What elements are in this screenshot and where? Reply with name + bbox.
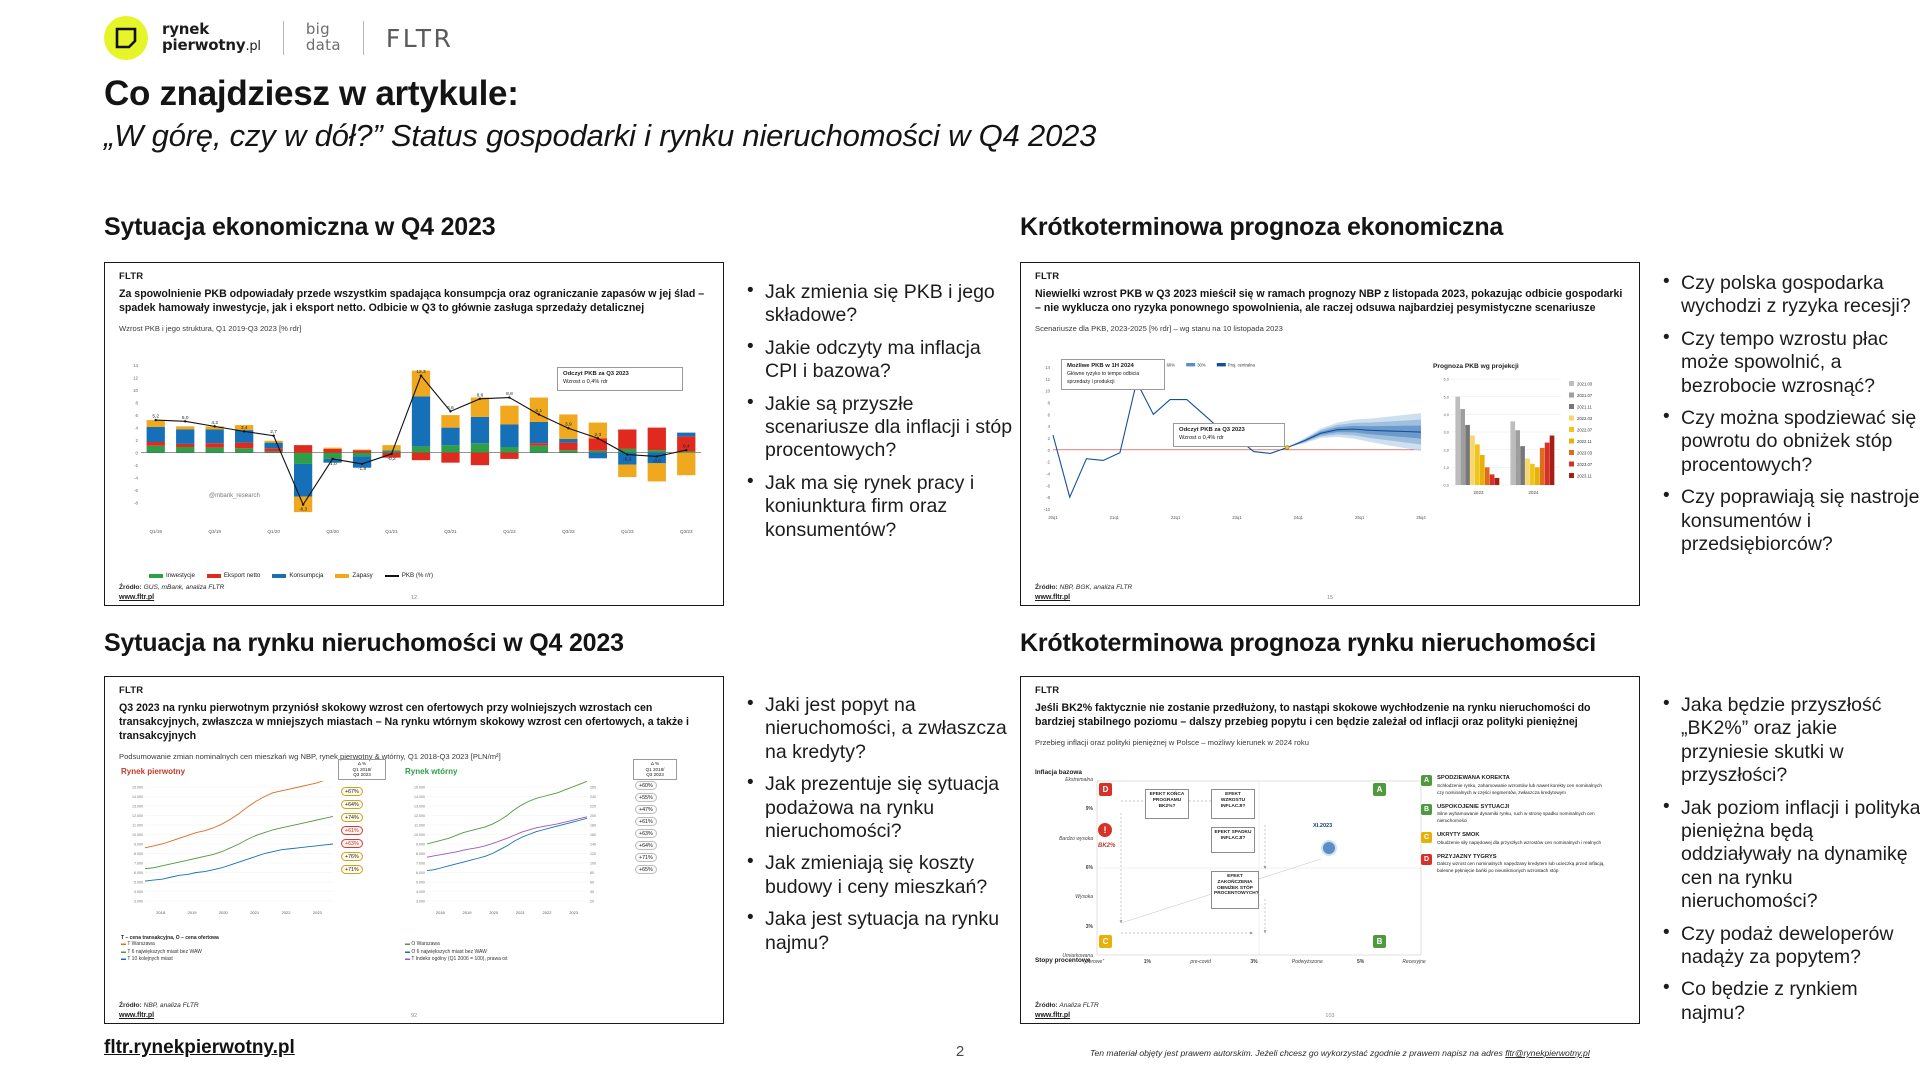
svg-text:40: 40	[590, 890, 594, 894]
svg-text:8,8: 8,8	[506, 391, 513, 397]
svg-text:2023.11: 2023.11	[1577, 473, 1592, 478]
svg-text:6,0: 6,0	[1443, 377, 1449, 382]
svg-text:-8: -8	[1046, 495, 1050, 500]
matrix-y-label: 6%	[1086, 865, 1093, 871]
matrix-bk2-label: BK2%	[1098, 843, 1115, 849]
bullet-item: Czy tempo wzrostu płac może spowolnić, a…	[1661, 328, 1920, 398]
svg-text:Q3/19: Q3/19	[208, 529, 221, 534]
svg-text:2018: 2018	[156, 910, 166, 915]
card3-source: Źródło: NBP, analiza FLTR	[119, 1002, 199, 1009]
card3-link[interactable]: www.fltr.pl	[119, 1012, 154, 1019]
card4-y-labels: Ekstremalna9%Bardzo wysoka6%Wysoka3%Umia…	[1045, 781, 1093, 957]
svg-text:15.000: 15.000	[132, 786, 143, 790]
rynekpierwotny-logo-icon	[104, 16, 148, 60]
card2-callout-gdp-q3: Odczyt PKB za Q3 2023 Wzrost o 0,4% rdr	[1173, 423, 1285, 447]
bullet-list-q1: Jak zmienia się PKB i jego składowe?Jaki…	[745, 281, 1013, 551]
bullet-item: Jak zmieniają się koszty budowy i ceny m…	[745, 852, 1013, 899]
svg-text:180: 180	[590, 824, 596, 828]
legend-item-konsumpcja: Konsumpcja	[272, 572, 323, 579]
svg-text:2: 2	[136, 438, 139, 443]
matrix-legend-item: BUSPOKOJENIE SYTUACJISilne wyhamowanie d…	[1421, 804, 1607, 826]
section-heading-economy-q4: Sytuacja ekonomiczna w Q4 2023	[104, 213, 495, 242]
card3-subtitle: Podsumowanie zmian nominalnych cen miesz…	[119, 752, 711, 761]
svg-text:200: 200	[590, 814, 596, 818]
bullet-item: Czy można spodziewać się powrotu do obni…	[1661, 407, 1920, 477]
svg-text:Q1/19: Q1/19	[149, 529, 162, 534]
footer-site-link[interactable]: fltr.rynekpierwotny.pl	[104, 1037, 295, 1059]
card4-link[interactable]: www.fltr.pl	[1035, 1012, 1070, 1019]
svg-text:2019: 2019	[188, 910, 198, 915]
matrix-node-a[interactable]: A	[1373, 783, 1386, 796]
svg-text:10.000: 10.000	[132, 833, 143, 837]
svg-text:0: 0	[136, 451, 139, 456]
matrix-legend-item: CUKRYTY SMOKObudzenie siły napędowej dla…	[1421, 832, 1607, 847]
svg-text:4,0: 4,0	[1443, 412, 1449, 417]
card1-callout-title: Odczyt PKB za Q3 2023	[563, 371, 629, 377]
svg-text:160: 160	[590, 833, 596, 837]
svg-text:2,0: 2,0	[1443, 447, 1449, 452]
svg-text:5.000: 5.000	[134, 881, 143, 885]
svg-text:240: 240	[590, 795, 596, 799]
card3-footnote: T – cena transakcyjna, O – cena ofertowa	[121, 935, 219, 941]
svg-text:6,1: 6,1	[536, 408, 543, 414]
svg-text:120: 120	[590, 852, 596, 856]
svg-text:2: 2	[1048, 436, 1051, 441]
svg-text:2021: 2021	[250, 910, 260, 915]
bullet-item: Co będzie z rynkiem najmu?	[1661, 978, 1920, 1025]
svg-text:25q1: 25q1	[1355, 515, 1365, 520]
price-delta-badge: +63%	[341, 839, 363, 848]
matrix-box-rate-cut-end: EFEKT ZAKOŃCZENIA OBNIŻEK STÓP PROCENTOW…	[1211, 871, 1259, 909]
svg-text:0,4: 0,4	[683, 444, 690, 450]
logo-divider-1	[283, 21, 284, 55]
svg-text:2,7: 2,7	[270, 429, 277, 435]
matrix-box-inflation-drop: EFEKT SPADKU INFLACJI?	[1211, 827, 1255, 853]
svg-text:-10: -10	[1044, 507, 1051, 512]
bullet-item: Jaka będzie przyszłość „BK2%” oraz jakie…	[1661, 694, 1920, 788]
svg-text:Q3/22: Q3/22	[562, 529, 575, 534]
svg-text:4,2: 4,2	[211, 420, 218, 426]
svg-text:-2: -2	[134, 463, 138, 468]
matrix-x-label: pre-covid	[1184, 959, 1218, 965]
svg-text:10.000: 10.000	[414, 833, 425, 837]
svg-text:9.000: 9.000	[416, 843, 425, 847]
brand-logo-bar: rynek pierwotny.pl big data FLTR	[104, 16, 453, 60]
price-delta-badge: +64%	[635, 841, 657, 850]
card1-fltr-label: FLTR	[119, 271, 711, 282]
card1-title: Za spowolnienie PKB odpowiadały przede w…	[119, 288, 711, 316]
svg-text:10: 10	[133, 388, 138, 393]
card3-left-deltas: +67%+64%+74%+61%+63%+76%+71%	[341, 787, 363, 874]
card4-fltr-label: FLTR	[1035, 685, 1627, 696]
card2-box-text: Główne ryzyko to tempo odbicia sprzedaży…	[1067, 371, 1139, 385]
card2-link[interactable]: www.fltr.pl	[1035, 594, 1070, 601]
svg-text:0,0: 0,0	[1443, 483, 1449, 488]
svg-text:10: 10	[1045, 389, 1050, 394]
card3-fltr-label: FLTR	[119, 685, 711, 696]
svg-text:-0,6: -0,6	[653, 458, 662, 464]
svg-text:60%: 60%	[1167, 362, 1176, 367]
footer-page-number: 2	[956, 1043, 964, 1060]
matrix-legend-item: ASPODZIEWANA KOREKTASchłodzenie rynku, z…	[1421, 775, 1607, 797]
svg-text:2022.03: 2022.03	[1577, 416, 1593, 421]
price-delta-badge: +60%	[635, 781, 657, 790]
slide-card-inflation-matrix[interactable]: FLTR Jeśli BK2% faktycznie nie zostanie …	[1020, 676, 1640, 1024]
gdp-projection-bars: 6,05,04,03,02,01,00,0202320242021.032021…	[1429, 367, 1619, 532]
matrix-x-label: Podwyższone	[1290, 959, 1324, 965]
bullet-item: Jakie odczyty ma inflacja CPI i bazowa?	[745, 337, 1013, 384]
matrix-legend-tag: D	[1421, 854, 1432, 865]
svg-text:25q4: 25q4	[1416, 515, 1426, 520]
matrix-y-label: 9%	[1086, 806, 1093, 812]
card3-right-deltas: +60%+55%+47%+61%+63%+64%+71%+65%	[635, 781, 657, 874]
matrix-node-c[interactable]: C	[1099, 935, 1112, 948]
svg-text:2019: 2019	[463, 910, 473, 915]
matrix-x-label: 1%	[1130, 959, 1164, 965]
card1-page-number: 12	[411, 595, 417, 601]
matrix-legend-tag: C	[1421, 832, 1432, 843]
footer-copyright: Ten materiał objęty jest prawem autorski…	[1090, 1048, 1590, 1058]
bullet-item: Jak prezentuje się sytuacja podażowa na …	[745, 773, 1013, 843]
logo-divider-2	[363, 21, 364, 55]
price-delta-badge: +76%	[341, 852, 363, 861]
matrix-x-label: „Zerowe”	[1077, 959, 1111, 965]
svg-text:2023.07: 2023.07	[1577, 462, 1593, 467]
svg-text:Q1/21: Q1/21	[385, 529, 398, 534]
svg-text:7.000: 7.000	[134, 862, 143, 866]
bullet-list-q3: Jaki jest popyt na nieruchomości, a zwła…	[745, 694, 1013, 964]
svg-text:-0,2: -0,2	[387, 456, 396, 462]
price-delta-badge: +64%	[341, 800, 363, 809]
svg-text:6,6: 6,6	[447, 405, 454, 411]
bullet-list-q2: Czy polska gospodarka wychodzi z ryzyka …	[1661, 272, 1920, 565]
svg-text:Proj. centralna: Proj. centralna	[1228, 362, 1256, 367]
svg-text:140: 140	[590, 843, 596, 847]
matrix-y-label: Wysoka	[1075, 894, 1093, 900]
svg-text:12.000: 12.000	[132, 814, 143, 818]
svg-text:23q1: 23q1	[1232, 515, 1242, 520]
card2-source: Źródło: NBP, BGK, analiza FLTR	[1035, 584, 1132, 591]
svg-text:2022: 2022	[282, 910, 292, 915]
svg-text:2021.03: 2021.03	[1577, 381, 1593, 386]
section-heading-economy-forecast: Krótkoterminowa prognoza ekonomiczna	[1020, 213, 1503, 242]
card3-legend-right: ▬ O Warszawa ▬ O 6 największych miast be…	[405, 941, 508, 964]
svg-text:-1,8: -1,8	[358, 466, 367, 472]
svg-text:2023: 2023	[313, 910, 323, 915]
svg-text:-4: -4	[134, 476, 138, 481]
brand-wordmark: rynek pierwotny.pl	[162, 22, 261, 53]
svg-text:12,3: 12,3	[416, 369, 426, 375]
svg-text:5,0: 5,0	[1443, 394, 1449, 399]
svg-text:220: 220	[590, 805, 596, 809]
svg-text:12: 12	[1045, 377, 1050, 382]
svg-text:0: 0	[1048, 448, 1051, 453]
matrix-node-b[interactable]: B	[1373, 935, 1386, 948]
svg-text:12: 12	[133, 376, 138, 381]
bullet-item: Jak ma się rynek pracy i koniunktura fir…	[745, 472, 1013, 542]
matrix-legend-text: Silne wyhamowanie dynamiki rynku, ruch w…	[1437, 811, 1595, 823]
svg-text:8.000: 8.000	[416, 852, 425, 856]
svg-text:2021.07: 2021.07	[1577, 393, 1593, 398]
bullet-item: Jaki jest popyt na nieruchomości, a zwła…	[745, 694, 1013, 764]
card4-legend: ASPODZIEWANA KOREKTASchłodzenie rynku, z…	[1421, 775, 1607, 882]
svg-text:4: 4	[136, 426, 139, 431]
primary-market-price-chart: 15.00014.00013.00012.00011.00010.0009.00…	[119, 781, 339, 931]
price-delta-badge: +47%	[635, 805, 657, 814]
svg-text:3,0: 3,0	[1443, 430, 1449, 435]
svg-text:4.000: 4.000	[134, 890, 143, 894]
svg-text:80: 80	[590, 871, 594, 875]
svg-text:100: 100	[590, 862, 596, 866]
svg-text:5,2: 5,2	[152, 414, 159, 420]
matrix-legend-title: UKRYTY SMOK	[1437, 832, 1480, 838]
matrix-warning-icon: !	[1098, 823, 1112, 837]
matrix-legend-item: DPRZYJAZNY TYGRYSDalszy wzrost cen nomin…	[1421, 854, 1607, 876]
matrix-box-bk2-end: EFEKT KOŃCA PROGRAMU BK2%?	[1145, 789, 1189, 819]
svg-text:-8: -8	[134, 501, 138, 506]
matrix-current-label: XI.2023	[1313, 823, 1332, 829]
svg-text:2023: 2023	[1473, 490, 1484, 495]
card1-subtitle: Wzrost PKB i jego struktura, Q1 2019-Q3 …	[119, 324, 711, 333]
bullet-item: Czy podaż deweloperów nadąży za popytem?	[1661, 923, 1920, 970]
svg-text:14.000: 14.000	[414, 795, 425, 799]
svg-text:-8,3: -8,3	[299, 507, 308, 513]
card4-page-number: 103	[1325, 1013, 1334, 1019]
slide-card-housing-prices[interactable]: FLTR Q3 2023 na rynku pierwotnym przynió…	[104, 676, 724, 1024]
bigdata-line-2: data	[306, 38, 341, 54]
svg-text:1,0: 1,0	[1443, 465, 1449, 470]
card2-box-possible-gdp: Możliwe PKB w 1H 2024 Główne ryzyko to t…	[1061, 359, 1165, 390]
matrix-x-label: Recesyjne	[1397, 959, 1431, 965]
svg-text:2022.11: 2022.11	[1577, 439, 1592, 444]
svg-text:2021: 2021	[516, 910, 526, 915]
svg-text:7.000: 7.000	[416, 862, 425, 866]
svg-text:-6: -6	[1046, 483, 1050, 488]
brand-tld: .pl	[245, 39, 260, 54]
card3-legend-left: ▬ T Warszawa ▬ T 6 największych miast be…	[121, 941, 202, 964]
svg-text:8: 8	[136, 401, 139, 406]
svg-text:60: 60	[590, 881, 594, 885]
card1-callout-gdp-q3: Odczyt PKB za Q3 2023 Wzrost o 0,4% rdr	[557, 367, 683, 391]
price-delta-badge: +71%	[341, 865, 363, 874]
svg-text:2020: 2020	[489, 910, 499, 915]
svg-text:6: 6	[1048, 412, 1051, 417]
matrix-node-d[interactable]: D	[1099, 783, 1112, 796]
card2-callout-title: Odczyt PKB za Q3 2023	[1179, 427, 1245, 433]
svg-text:14: 14	[1045, 365, 1050, 370]
svg-text:2,3: 2,3	[595, 432, 602, 438]
matrix-legend-title: USPOKOJENIE SYTUACJI	[1437, 804, 1509, 810]
slide-card-gdp-forecast[interactable]: FLTR Niewielki wzrost PKB w Q3 2023 mieś…	[1020, 262, 1640, 606]
card1-legend: Inwestycje Eksport netto Konsumpcja Zapa…	[149, 572, 433, 579]
matrix-x-label: 3%	[1237, 959, 1271, 965]
svg-text:-0,3: -0,3	[623, 457, 632, 463]
svg-text:Q1/22: Q1/22	[503, 529, 516, 534]
legend-item-zapasy: Zapasy	[335, 572, 372, 579]
matrix-x-label: 5%	[1344, 959, 1378, 965]
card2-fltr-label: FLTR	[1035, 271, 1627, 282]
section-heading-realestate-q4: Sytuacja na rynku nieruchomości w Q4 202…	[104, 629, 624, 658]
svg-text:8.000: 8.000	[134, 852, 143, 856]
secondary-market-price-chart: 15.00014.00013.00012.00011.00010.0009.00…	[401, 781, 621, 931]
price-delta-badge: +71%	[635, 853, 657, 862]
card4-title: Jeśli BK2% faktycznie nie zostanie przed…	[1035, 702, 1627, 730]
svg-text:11.000: 11.000	[132, 824, 143, 828]
bullet-item: Jaka jest sytuacja na rynku najmu?	[745, 908, 1013, 955]
svg-text:13.000: 13.000	[132, 805, 143, 809]
svg-text:-2: -2	[1046, 460, 1050, 465]
card3-delta-header: Δ %Q1 2018/Q3 2023	[338, 759, 386, 780]
svg-text:Q3/21: Q3/21	[444, 529, 457, 534]
matrix-current-point[interactable]	[1321, 840, 1337, 856]
matrix-box-inflation-growth: EFEKT WZROSTU INFLACJI?	[1211, 789, 1255, 819]
price-delta-badge: +55%	[635, 793, 657, 802]
matrix-legend-title: SPODZIEWANA KOREKTA	[1437, 775, 1510, 781]
svg-text:20q1: 20q1	[1048, 515, 1058, 520]
svg-text:3.000: 3.000	[134, 900, 143, 904]
svg-text:2021.11: 2021.11	[1577, 404, 1592, 409]
svg-text:15.000: 15.000	[414, 786, 425, 790]
price-delta-badge: +65%	[635, 865, 657, 874]
svg-text:6.000: 6.000	[134, 871, 143, 875]
svg-text:2023.03: 2023.03	[1577, 450, 1593, 455]
page-title: Co znajdziesz w artykule:	[104, 74, 519, 114]
legend-item-eksport-netto: Eksport netto	[207, 572, 260, 579]
slide-page: rynek pierwotny.pl big data FLTR Co znaj…	[0, 0, 1920, 1080]
svg-text:3.000: 3.000	[416, 900, 425, 904]
fltr-wordmark: FLTR	[386, 24, 454, 53]
bullet-item: Czy polska gospodarka wychodzi z ryzyka …	[1661, 272, 1920, 319]
card2-page-number: 15	[1327, 595, 1333, 601]
bullet-list-q4: Jaka będzie przyszłość „BK2%” oraz jakie…	[1661, 694, 1920, 1034]
slide-card-gdp-structure[interactable]: FLTR Za spowolnienie PKB odpowiadały prz…	[104, 262, 724, 606]
svg-text:14: 14	[133, 363, 138, 368]
svg-text:13.000: 13.000	[414, 805, 425, 809]
matrix-legend-tag: B	[1421, 804, 1432, 815]
bullet-item: Jak zmienia się PKB i jego składowe?	[745, 281, 1013, 328]
svg-text:2022.07: 2022.07	[1577, 427, 1593, 432]
section-heading-realestate-forecast: Krótkoterminowa prognoza rynku nieruchom…	[1020, 629, 1596, 658]
matrix-y-label: Ekstremalna	[1065, 777, 1093, 783]
bigdata-wordmark: big data	[306, 22, 341, 54]
card3-right-chart-title: Rynek wtórny	[405, 767, 457, 776]
svg-text:8: 8	[1048, 401, 1051, 406]
legend-item-inwestycje: Inwestycje	[149, 572, 195, 579]
svg-text:2020: 2020	[219, 910, 229, 915]
svg-text:2022: 2022	[543, 910, 553, 915]
svg-text:3,4: 3,4	[241, 425, 248, 431]
brand-line-2: pierwotny.pl	[162, 38, 261, 54]
card3-title: Q3 2023 na rynku pierwotnym przyniósł sk…	[119, 702, 711, 744]
svg-text:Q1/20: Q1/20	[267, 529, 280, 534]
svg-text:12.000: 12.000	[414, 814, 425, 818]
svg-text:Q1/23: Q1/23	[621, 529, 634, 534]
price-delta-badge: +74%	[341, 813, 363, 822]
svg-text:-1,0: -1,0	[328, 461, 337, 467]
svg-text:6.000: 6.000	[416, 871, 425, 875]
card1-callout-text: Wzrost o 0,4% rdr	[563, 379, 608, 385]
matrix-y-label: 3%	[1086, 924, 1093, 930]
svg-text:4: 4	[1048, 424, 1051, 429]
svg-text:30%: 30%	[1197, 362, 1206, 367]
svg-text:4.000: 4.000	[416, 890, 425, 894]
svg-text:6: 6	[136, 413, 139, 418]
svg-text:Q3/20: Q3/20	[326, 529, 339, 534]
svg-text:20: 20	[590, 900, 594, 904]
card3-delta-header-right: Δ %Q1 2018/Q3 2023	[633, 759, 677, 780]
card2-box-title: Możliwe PKB w 1H 2024	[1067, 363, 1134, 369]
price-delta-badge: +61%	[341, 826, 363, 835]
card3-page-number: 92	[411, 1013, 417, 1019]
matrix-legend-tag: A	[1421, 775, 1432, 786]
bullet-item: Jak poziom inflacji i polityka pieniężna…	[1661, 797, 1920, 914]
svg-text:9.000: 9.000	[134, 843, 143, 847]
card4-source: Źródło: Analiza FLTR	[1035, 1002, 1099, 1009]
matrix-legend-title: PRZYJAZNY TYGRYS	[1437, 854, 1497, 860]
svg-text:5.000: 5.000	[416, 881, 425, 885]
matrix-y-label: Bardzo wysoka	[1059, 836, 1093, 842]
svg-text:24q1: 24q1	[1294, 515, 1304, 520]
svg-text:22q1: 22q1	[1171, 515, 1181, 520]
svg-text:260: 260	[590, 786, 596, 790]
svg-text:11.000: 11.000	[414, 824, 425, 828]
card1-source: Źródło: GUS, mBank, analiza FLTR	[119, 584, 224, 591]
matrix-legend-text: Dalszy wzrost cen nominalnych napędzany …	[1437, 861, 1605, 873]
svg-text:-6: -6	[134, 488, 138, 493]
card4-subtitle: Przebieg inflacji oraz polityki pieniężn…	[1035, 738, 1627, 747]
card2-subtitle: Scenariusze dla PKB, 2023-2025 [% rdr] –…	[1035, 324, 1627, 333]
price-delta-badge: +61%	[635, 817, 657, 826]
footer-contact-mail[interactable]: fltr@rynekpierwotny.pl	[1505, 1048, 1590, 1058]
card3-left-chart-title: Rynek pierwotny	[121, 767, 185, 776]
matrix-legend-text: Schłodzenie rynku, zahamowanie wzrostów …	[1437, 783, 1602, 795]
svg-text:21q1: 21q1	[1110, 515, 1120, 520]
bullet-item: Jakie są przyszłe scenariusze dla inflac…	[745, 393, 1013, 463]
matrix-legend-text: Obudzenie siły napędowej dla przyszłych …	[1437, 840, 1601, 845]
svg-text:2023: 2023	[569, 910, 579, 915]
card2-right-chart-title: Prognoza PKB wg projekcji	[1433, 363, 1519, 370]
price-delta-badge: +67%	[341, 787, 363, 796]
svg-text:Q3/23: Q3/23	[680, 529, 693, 534]
svg-text:-4: -4	[1046, 472, 1050, 477]
card2-title: Niewielki wzrost PKB w Q3 2023 mieścił s…	[1035, 288, 1627, 316]
card1-watermark: @mbank_research	[209, 493, 260, 499]
svg-text:2024: 2024	[1528, 490, 1539, 495]
svg-text:3,9: 3,9	[565, 422, 572, 428]
page-subtitle: „W górę, czy w dół?” Status gospodarki i…	[104, 118, 1096, 154]
price-delta-badge: +63%	[635, 829, 657, 838]
bullet-item: Czy poprawiają się nastroje konsumentów …	[1661, 486, 1920, 556]
svg-text:8,6: 8,6	[477, 392, 484, 398]
card2-callout-text: Wzrost o 0,4% rdr	[1179, 435, 1224, 441]
legend-item-pkb-line: PKB (% r/r)	[385, 572, 433, 579]
svg-text:5,0: 5,0	[182, 415, 189, 421]
card1-link[interactable]: www.fltr.pl	[119, 594, 154, 601]
card4-x-labels: „Zerowe”1%pre-covid3%Podwyższone5%Recesy…	[1093, 959, 1413, 973]
svg-text:14.000: 14.000	[132, 795, 143, 799]
svg-text:2018: 2018	[436, 910, 446, 915]
